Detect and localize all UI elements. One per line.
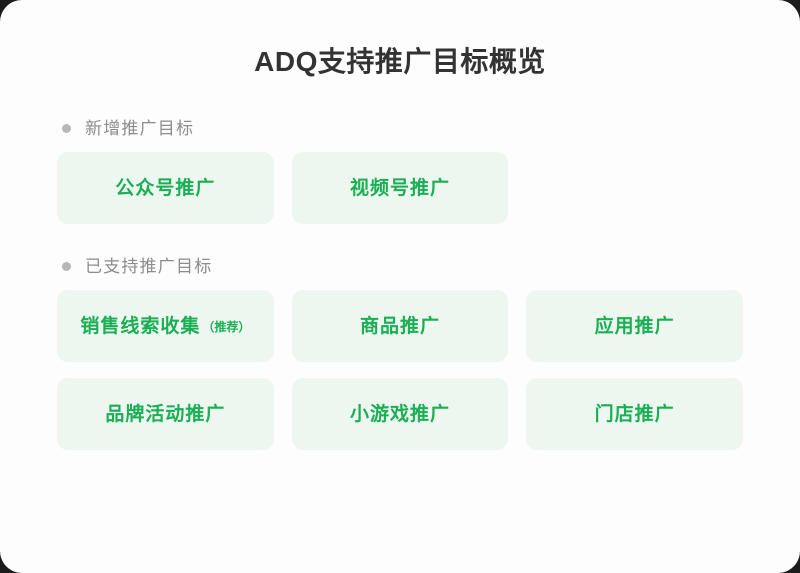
goal-card[interactable]: 应用推广: [526, 290, 743, 362]
page-title: ADQ支持推广目标概览: [0, 0, 800, 79]
goal-card-label: 公众号推广: [115, 179, 215, 198]
dot-bullet-icon: [62, 262, 71, 271]
card-grid-existing-goals: 销售线索收集（推荐） 商品推广 应用推广 品牌活动推广 小游戏推广 门店推广: [57, 290, 743, 450]
goal-card-label: 商品推广: [360, 317, 440, 336]
goal-card-label: 小游戏推广: [350, 405, 450, 424]
goal-card[interactable]: 小游戏推广: [292, 378, 509, 450]
goal-card[interactable]: 视频号推广: [292, 152, 509, 224]
goal-card-label: 视频号推广: [350, 179, 450, 198]
card-grid-new-goals: 公众号推广 视频号推广: [57, 152, 743, 224]
section-label-new-goals: 新增推广目标: [85, 120, 194, 137]
goal-card-label: 销售线索收集: [80, 317, 200, 336]
goal-card-label: 门店推广: [595, 405, 675, 424]
section-header-new-goals: 新增推广目标: [57, 120, 743, 137]
section-new-goals: 新增推广目标 公众号推广 视频号推广: [0, 120, 800, 224]
overview-card: ADQ支持推广目标概览 新增推广目标 公众号推广 视频号推广 已支持推广目标 销…: [0, 0, 800, 573]
goal-card-note: （推荐）: [202, 318, 250, 335]
dot-bullet-icon: [62, 124, 71, 133]
goal-card[interactable]: 商品推广: [292, 290, 509, 362]
goal-card[interactable]: 销售线索收集（推荐）: [57, 290, 274, 362]
goal-card-label: 应用推广: [595, 317, 675, 336]
goal-card[interactable]: 门店推广: [526, 378, 743, 450]
section-header-existing-goals: 已支持推广目标: [57, 258, 743, 275]
section-existing-goals: 已支持推广目标 销售线索收集（推荐） 商品推广 应用推广 品牌活动推广 小游戏推…: [0, 258, 800, 450]
section-label-existing-goals: 已支持推广目标: [85, 258, 212, 275]
goal-card[interactable]: 品牌活动推广: [57, 378, 274, 450]
goal-card-label: 品牌活动推广: [105, 405, 225, 424]
goal-card[interactable]: 公众号推广: [57, 152, 274, 224]
